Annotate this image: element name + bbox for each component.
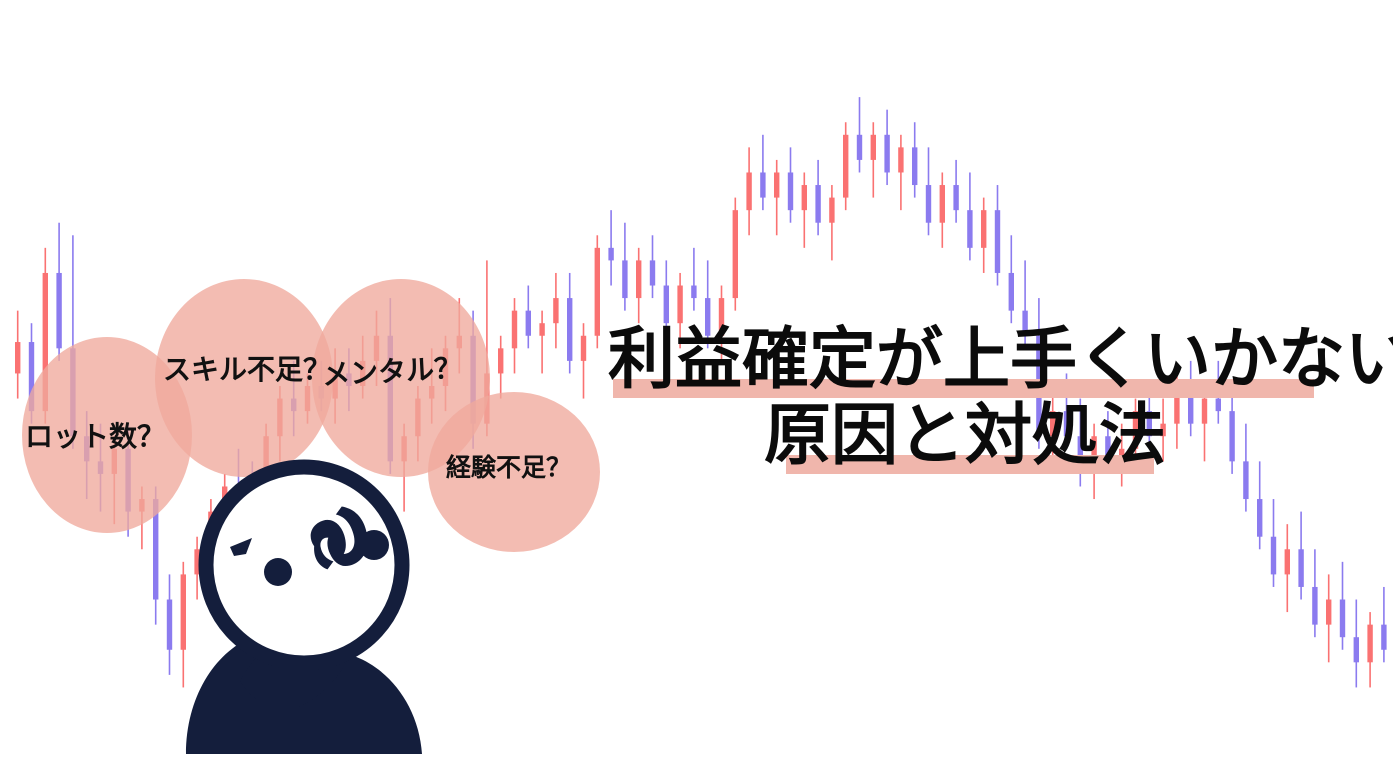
bubble-label-lot-size: ロット数？ bbox=[25, 415, 165, 455]
bubble-label-skill: スキル不足？ bbox=[163, 348, 331, 388]
title-line-2: 原因と対処法 bbox=[608, 402, 1322, 478]
thinking-person-illustration bbox=[178, 455, 430, 754]
person-head bbox=[206, 467, 402, 663]
poster-title: 利益確定が上手くいかない 原因と対処法 bbox=[608, 326, 1322, 478]
bubble-label-mental: メンタル？ bbox=[321, 346, 463, 393]
bubble-label-experience: 経験不足？ bbox=[446, 448, 571, 484]
title-text-1: 利益確定が上手くいかない bbox=[608, 320, 1393, 398]
title-line-1: 利益確定が上手くいかない bbox=[608, 326, 1322, 402]
title-text-2: 原因と対処法 bbox=[764, 396, 1166, 474]
poster-canvas: ロット数？ スキル不足？ メンタル？ 経験不足？ 利益確定 bbox=[0, 0, 1393, 784]
